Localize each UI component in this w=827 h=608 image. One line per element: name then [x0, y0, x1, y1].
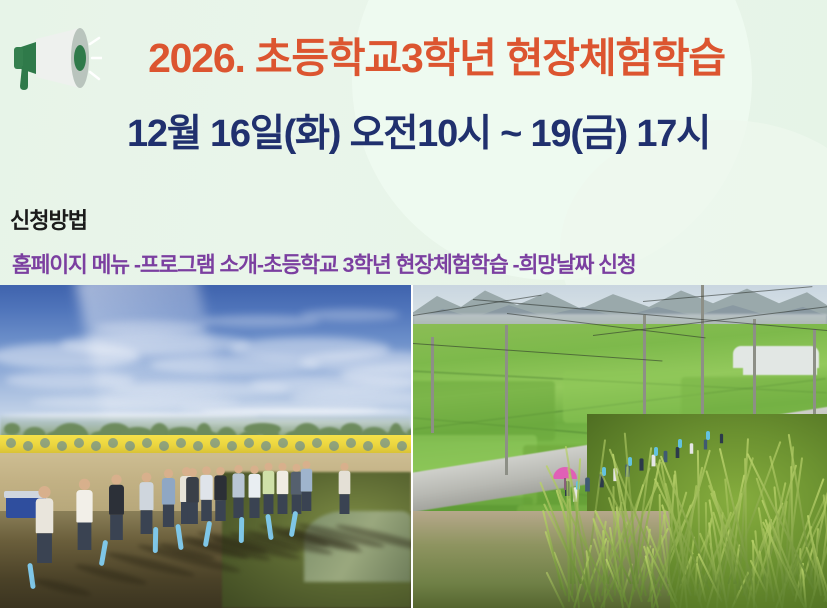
photo-rice-paddy-walk	[413, 285, 827, 608]
barrier-marker-1	[23, 441, 33, 451]
utility-pole-3	[753, 319, 756, 429]
student-figure-9	[232, 465, 244, 518]
student-figure-15	[339, 463, 351, 514]
cloud-1	[60, 333, 250, 355]
student-head	[188, 468, 197, 477]
paddy-patch-0	[413, 381, 555, 441]
student-legs	[37, 533, 52, 563]
utility-pole-4	[431, 337, 434, 433]
student-torso	[186, 477, 199, 502]
student-head	[250, 465, 258, 473]
student-legs	[233, 497, 243, 517]
barrier-marker-2	[40, 438, 50, 448]
student-head	[79, 479, 90, 490]
student-head	[142, 472, 152, 482]
student-head	[164, 469, 173, 478]
apply-method-label: 신청방법	[10, 203, 87, 235]
student-torso	[109, 485, 124, 515]
student-legs	[249, 497, 259, 517]
student-legs	[78, 522, 92, 550]
walking-student-11	[704, 439, 707, 449]
student-legs	[163, 505, 174, 527]
student-legs	[340, 495, 350, 515]
student-figure-1	[76, 479, 92, 550]
cloud-12	[95, 321, 205, 335]
barrier-marker-18	[312, 438, 322, 448]
barrier-marker-15	[261, 441, 271, 451]
student-figure-14	[301, 461, 312, 511]
barrier-marker-4	[74, 438, 84, 448]
student-figure-11	[263, 463, 275, 514]
walking-student-10	[690, 443, 694, 454]
student-head	[38, 486, 50, 498]
student-figure-7	[200, 466, 212, 521]
student-torso	[200, 475, 212, 500]
walking-student-2	[585, 477, 590, 491]
student-torso	[263, 471, 275, 494]
student-legs	[215, 500, 225, 521]
barrier-marker-16	[278, 438, 288, 448]
walking-student-6	[639, 458, 643, 470]
carried-net-7	[654, 447, 658, 456]
barrier-marker-12	[210, 438, 220, 448]
cloud-14	[300, 309, 400, 321]
utility-pole-0	[505, 325, 508, 475]
student-legs	[278, 495, 288, 515]
student-torso	[139, 482, 153, 510]
student-legs	[110, 515, 123, 540]
barrier-marker-10	[176, 438, 186, 448]
student-torso	[76, 490, 92, 523]
photo-strip	[0, 285, 827, 608]
walking-student-8	[664, 451, 668, 462]
barrier-marker-0	[6, 438, 16, 448]
barrier-marker-5	[91, 441, 101, 451]
poster-header-banner: 2026. 초등학교3학년 현장체험학습 12월 16일(화) 오전10시 ~ …	[0, 0, 827, 285]
butterfly-net-10	[239, 517, 244, 543]
barrier-marker-19	[329, 441, 339, 451]
student-torso	[214, 475, 226, 500]
carried-net-11	[706, 431, 710, 440]
barrier-marker-14	[244, 438, 254, 448]
photo-students-nets	[0, 285, 411, 608]
student-figure-12	[277, 463, 289, 514]
student-legs	[201, 500, 212, 521]
student-head	[202, 466, 211, 475]
barrier-marker-20	[346, 438, 356, 448]
page-title: 2026. 초등학교3학년 현장체험학습	[0, 36, 827, 81]
student-legs	[264, 495, 274, 515]
student-legs	[302, 492, 312, 511]
barrier-marker-9	[159, 441, 169, 451]
walking-student-9	[676, 447, 680, 458]
student-legs	[187, 502, 198, 524]
student-head	[303, 461, 311, 469]
student-torso	[249, 473, 261, 497]
student-torso	[162, 478, 175, 505]
barrier-marker-22	[380, 438, 390, 448]
student-figure-0	[36, 486, 54, 563]
barrier-marker-3	[57, 441, 67, 451]
barrier-marker-8	[142, 438, 152, 448]
apply-method-breadcrumb: 홈페이지 메뉴 -프로그램 소개-초등학교 3학년 현장체험학습 -희망날짜 신…	[12, 248, 636, 279]
student-figure-8	[214, 467, 226, 521]
student-head	[111, 475, 121, 485]
student-torso	[36, 498, 54, 533]
barrier-marker-21	[363, 441, 373, 451]
butterfly-net-4	[153, 527, 158, 553]
barrier-marker-13	[227, 441, 237, 451]
event-datetime: 12월 16일(화) 오전10시 ~ 19(금) 17시	[0, 114, 827, 156]
student-torso	[301, 469, 312, 492]
barrier-marker-17	[295, 441, 305, 451]
student-head	[234, 465, 242, 473]
poster-root: 2026. 초등학교3학년 현장체험학습 12월 16일(화) 오전10시 ~ …	[0, 0, 827, 608]
student-figure-10	[249, 465, 261, 517]
carried-net-9	[678, 439, 682, 448]
student-figure-4	[162, 469, 175, 527]
student-torso	[339, 471, 351, 494]
student-torso	[232, 473, 244, 497]
barrier-marker-23	[397, 441, 407, 451]
walking-student-12	[720, 434, 723, 444]
barrier-marker-7	[125, 441, 135, 451]
student-figure-2	[109, 475, 124, 541]
barrier-marker-6	[108, 438, 118, 448]
student-figure-3	[139, 472, 153, 534]
tree-0	[4, 423, 20, 435]
student-torso	[277, 471, 289, 494]
student-figure-6	[186, 468, 199, 524]
barrier-marker-11	[193, 441, 203, 451]
student-legs	[141, 510, 153, 534]
student-head	[216, 467, 225, 476]
